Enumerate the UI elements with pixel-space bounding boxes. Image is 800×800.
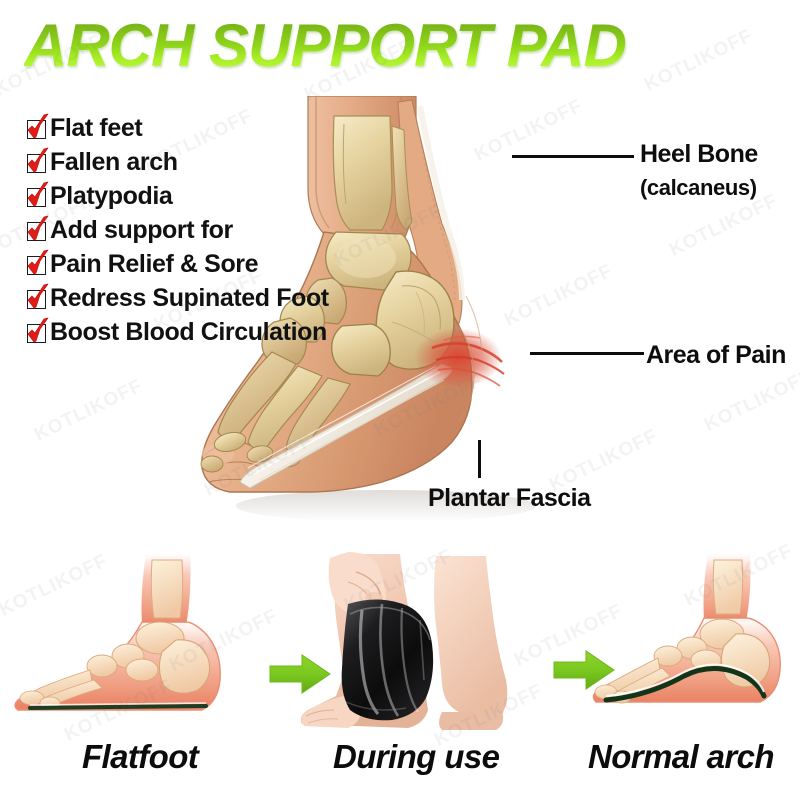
checkmark-icon <box>26 220 48 242</box>
checkmark-icon <box>26 288 48 310</box>
list-item: Pain Relief & Sore <box>26 248 329 281</box>
caption-flatfoot: Flatfoot <box>82 738 198 776</box>
product-infographic: ARCH SUPPORT PAD Flat feet Fallen arch <box>0 0 800 800</box>
benefits-checklist: Flat feet Fallen arch Platypodia <box>26 112 329 350</box>
list-item-label: Redress Supinated Foot <box>50 286 329 311</box>
list-item: Platypodia <box>26 180 329 213</box>
arrow-right-icon <box>268 652 332 701</box>
arrow-right-icon <box>552 648 616 697</box>
checkmark-icon <box>26 322 48 344</box>
list-item-label: Pain Relief & Sore <box>50 252 258 277</box>
annotation-plantar-fascia: Plantar Fascia <box>428 484 591 513</box>
panel-during-use <box>296 552 526 742</box>
checkmark-icon <box>26 152 48 174</box>
panel-normal-arch <box>588 552 800 742</box>
watermark: KOTLIKOFF <box>31 375 146 446</box>
leader-line-plantar-fascia <box>478 440 481 478</box>
list-item: Redress Supinated Foot <box>26 282 329 315</box>
watermark: KOTLIKOFF <box>641 25 756 96</box>
checkmark-icon <box>26 254 48 276</box>
leader-line-heel-bone <box>512 155 634 158</box>
list-item-label: Boost Blood Circulation <box>50 320 327 345</box>
watermark: KOTLIKOFF <box>666 190 781 261</box>
leader-line-area-of-pain <box>530 352 644 355</box>
annotation-area-of-pain: Area of Pain <box>646 341 786 370</box>
watermark: KOTLIKOFF <box>701 365 800 436</box>
list-item: Boost Blood Circulation <box>26 316 329 349</box>
list-item: Add support for <box>26 214 329 247</box>
annotation-heel-bone: Heel Bone <box>640 140 758 169</box>
list-item: Fallen arch <box>26 146 329 179</box>
list-item-label: Fallen arch <box>50 150 178 175</box>
checkmark-icon <box>26 186 48 208</box>
caption-normal-arch: Normal arch <box>588 738 774 776</box>
list-item: Flat feet <box>26 112 329 145</box>
panel-flatfoot <box>10 552 260 742</box>
caption-during-use: During use <box>333 738 499 776</box>
page-title: ARCH SUPPORT PAD <box>24 16 626 76</box>
list-item-label: Add support for <box>50 218 233 243</box>
list-item-label: Flat feet <box>50 116 142 141</box>
annotation-heel-bone-sub: (calcaneus) <box>640 175 757 201</box>
checkmark-icon <box>26 118 48 140</box>
list-item-label: Platypodia <box>50 184 172 209</box>
